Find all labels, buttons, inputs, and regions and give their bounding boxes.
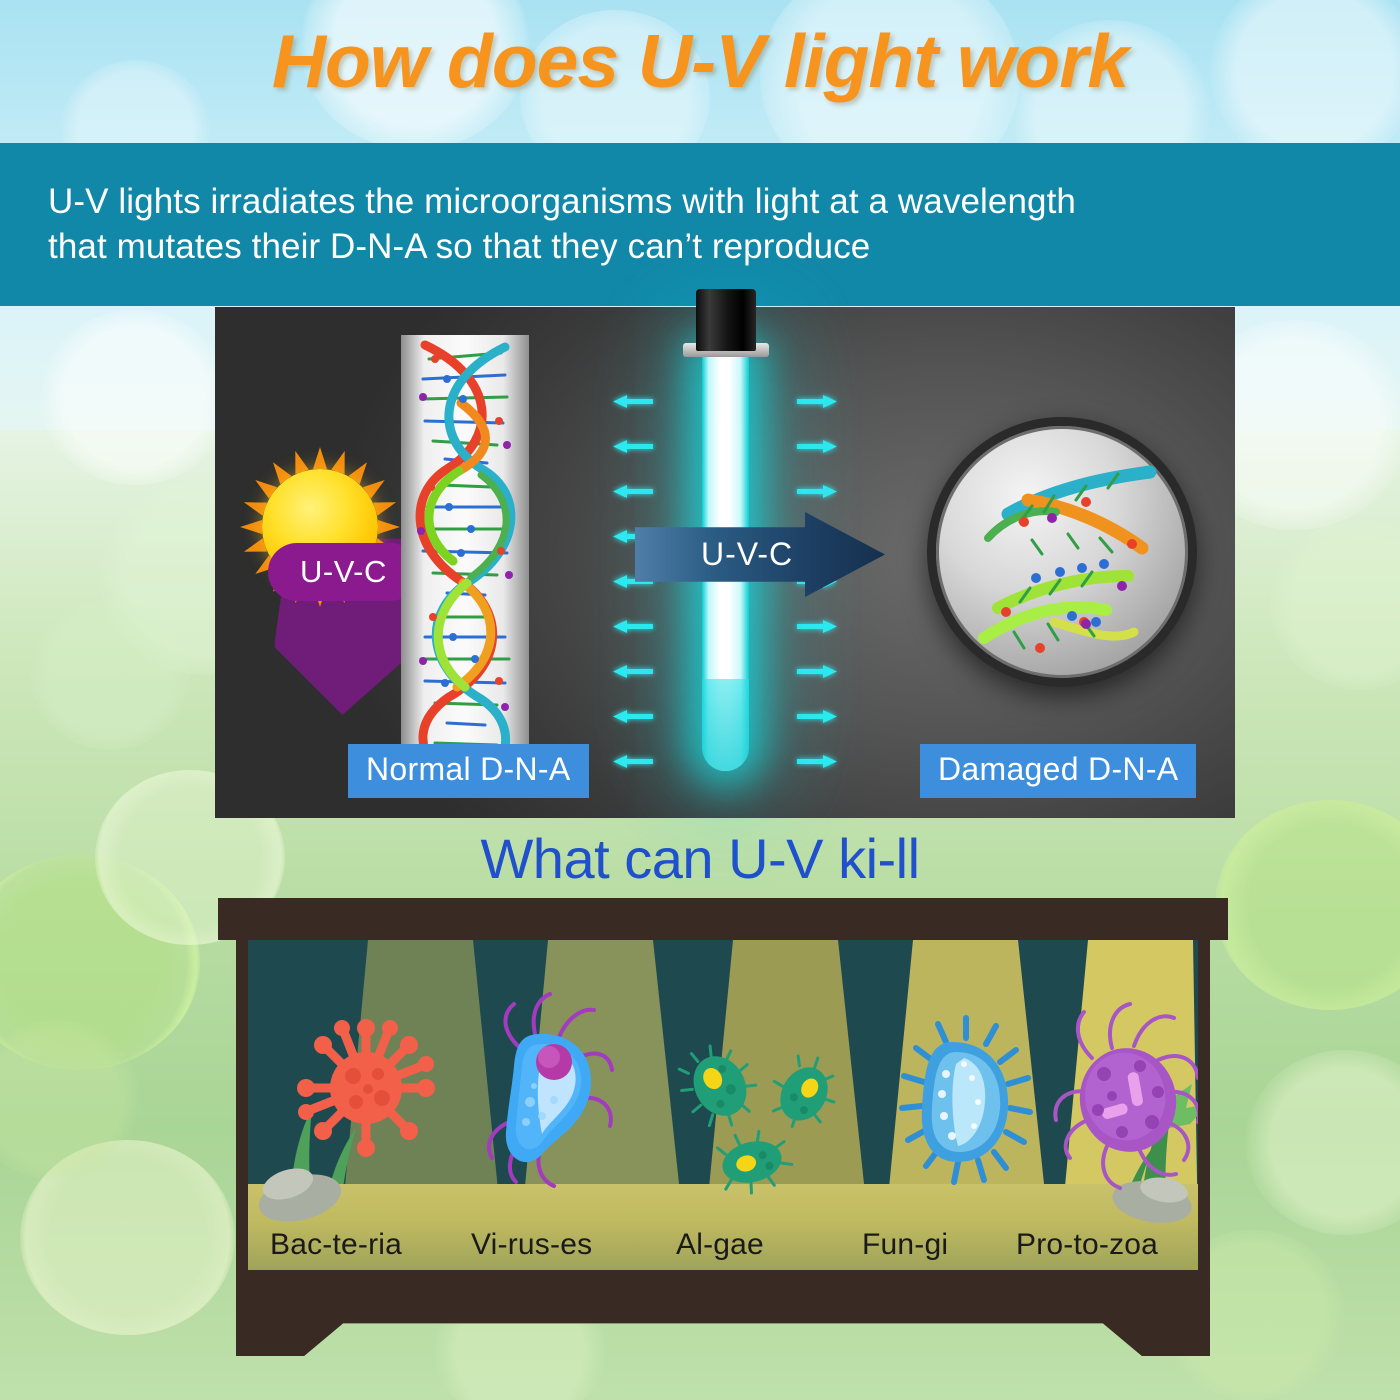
organism-label-viruses: Vi-rus-es	[471, 1228, 592, 1262]
tank-hood	[218, 898, 1228, 940]
uvc-badge: U-V-C	[268, 543, 419, 601]
lamp-tube-fill	[702, 679, 749, 771]
bacteria-icon	[297, 1019, 435, 1157]
protozoa-icon	[1055, 1004, 1198, 1188]
dna-helix-svg	[401, 335, 529, 765]
tank-stand	[236, 1270, 1210, 1356]
virus-icon	[489, 994, 612, 1186]
microorganisms	[248, 940, 1198, 1270]
caption-damaged-dna: Damaged D-N-A	[920, 744, 1196, 798]
page-title: How does U-V light work	[0, 18, 1400, 104]
organism-label-protozoa: Pro-to-zoa	[1016, 1228, 1158, 1262]
subtitle-line-2: that mutates their D-N-A so that they ca…	[48, 225, 1076, 269]
subtitle-text: U-V lights irradiates the microorganisms…	[0, 180, 1106, 269]
subtitle-banner: U-V lights irradiates the microorganisms…	[0, 143, 1400, 306]
caption-normal-dna: Normal D-N-A	[348, 744, 589, 798]
lamp-cap	[696, 289, 756, 351]
tank-water	[248, 940, 1198, 1270]
section-heading: What can U-V ki-ll	[0, 826, 1400, 891]
uv-mechanism-diagram: U-V-C	[215, 307, 1235, 818]
uvc-arrow-label: U-V-C	[635, 536, 793, 573]
title-area: How does U-V light work	[0, 0, 1400, 143]
organism-label-fungi: Fun-gi	[862, 1228, 948, 1262]
subtitle-line-1: U-V lights irradiates the microorganisms…	[48, 180, 1076, 224]
aquarium-illustration: Bac-te-ria Vi-rus-es Al-gae Fun-gi Pro-t…	[218, 898, 1228, 1378]
organism-label-algae: Al-gae	[676, 1228, 764, 1262]
tank-frame-left	[236, 940, 248, 1270]
organism-label-bacteria: Bac-te-ria	[270, 1228, 402, 1262]
tank-frame-right	[1198, 940, 1210, 1270]
fungi-icon	[902, 1018, 1030, 1182]
algae-icon	[668, 1033, 848, 1199]
dna-helix-icon	[401, 335, 529, 765]
magnifier-icon	[927, 417, 1197, 687]
damaged-dna-icon	[936, 426, 1188, 678]
